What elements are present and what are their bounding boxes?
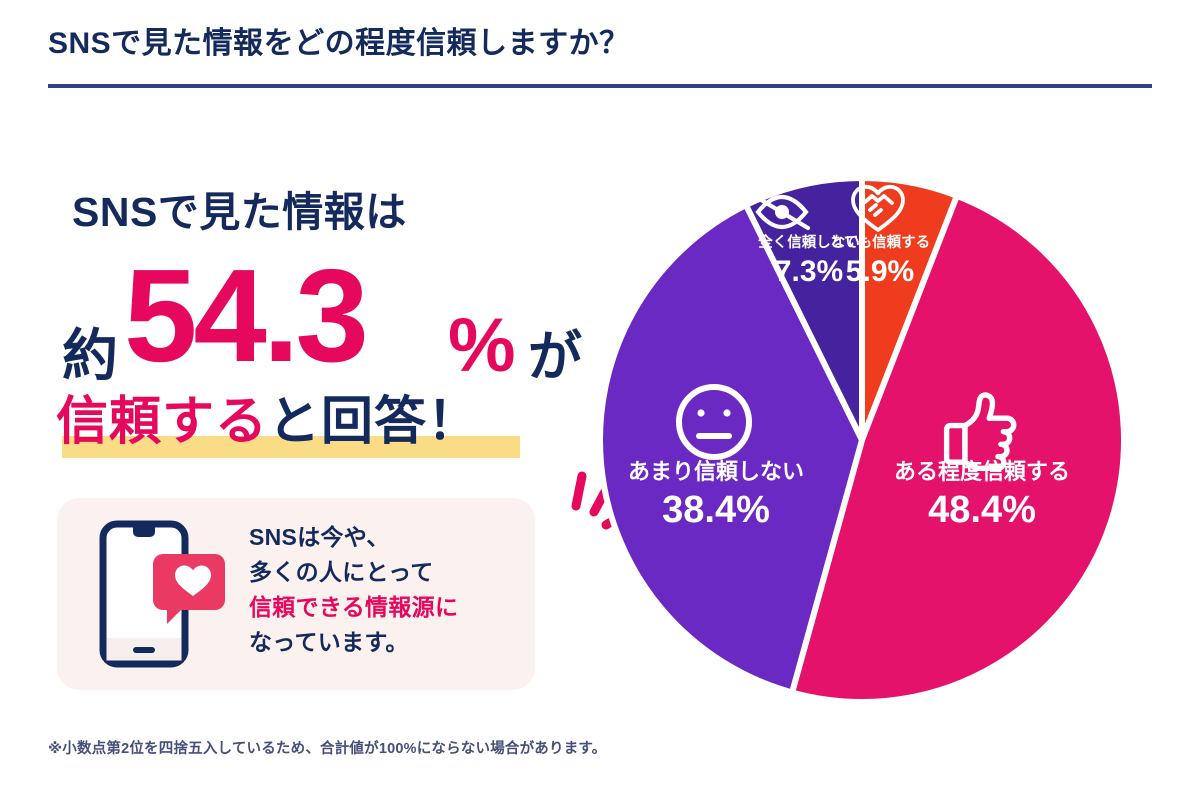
header-divider	[48, 84, 1152, 88]
insight-card-text: SNSは今や、 多くの人にとって 信頼できる情報源に なっています。	[249, 520, 519, 660]
card-line-2: 多くの人にとって	[249, 559, 434, 585]
footnote: ※小数点第2位を四捨五入しているため、合計値が100%にならない場合があります。	[48, 737, 606, 758]
page-title: SNSで見た情報をどの程度信頼しますか？	[48, 26, 1152, 62]
lede-line-3-navy: と回答！	[268, 393, 480, 451]
left-panel: SNSで見た情報は 約 54.3 % が 信頼すると回答！	[0, 150, 600, 770]
page-header: SNSで見た情報をどの程度信頼しますか？	[48, 26, 1152, 62]
pie-chart: 全く信頼しない 7.3% とても信頼する 5.9% あまり信頼しない 38.4%…	[598, 140, 1138, 720]
card-line-4: なっています。	[249, 629, 409, 655]
big-statistic: 約 54.3 % が	[52, 218, 592, 378]
phone-with-heart-icon	[93, 518, 233, 670]
pie-slice-group	[600, 178, 1124, 702]
insight-card: SNSは今や、 多くの人にとって 信頼できる情報源に なっています。	[57, 498, 535, 690]
pie-chart-svg	[598, 140, 1138, 720]
percent-sign: %	[448, 308, 516, 384]
approx-prefix: 約	[62, 328, 118, 384]
particle-ga: が	[528, 330, 582, 384]
lede-line-3-pink: 信頼する	[56, 393, 268, 451]
card-line-1: SNSは今や、	[249, 524, 390, 550]
big-percentage-number: 54.3	[124, 250, 365, 382]
lede-line-3: 信頼すると回答！	[56, 396, 480, 448]
card-line-3: 信頼できる情報源に	[249, 594, 458, 620]
